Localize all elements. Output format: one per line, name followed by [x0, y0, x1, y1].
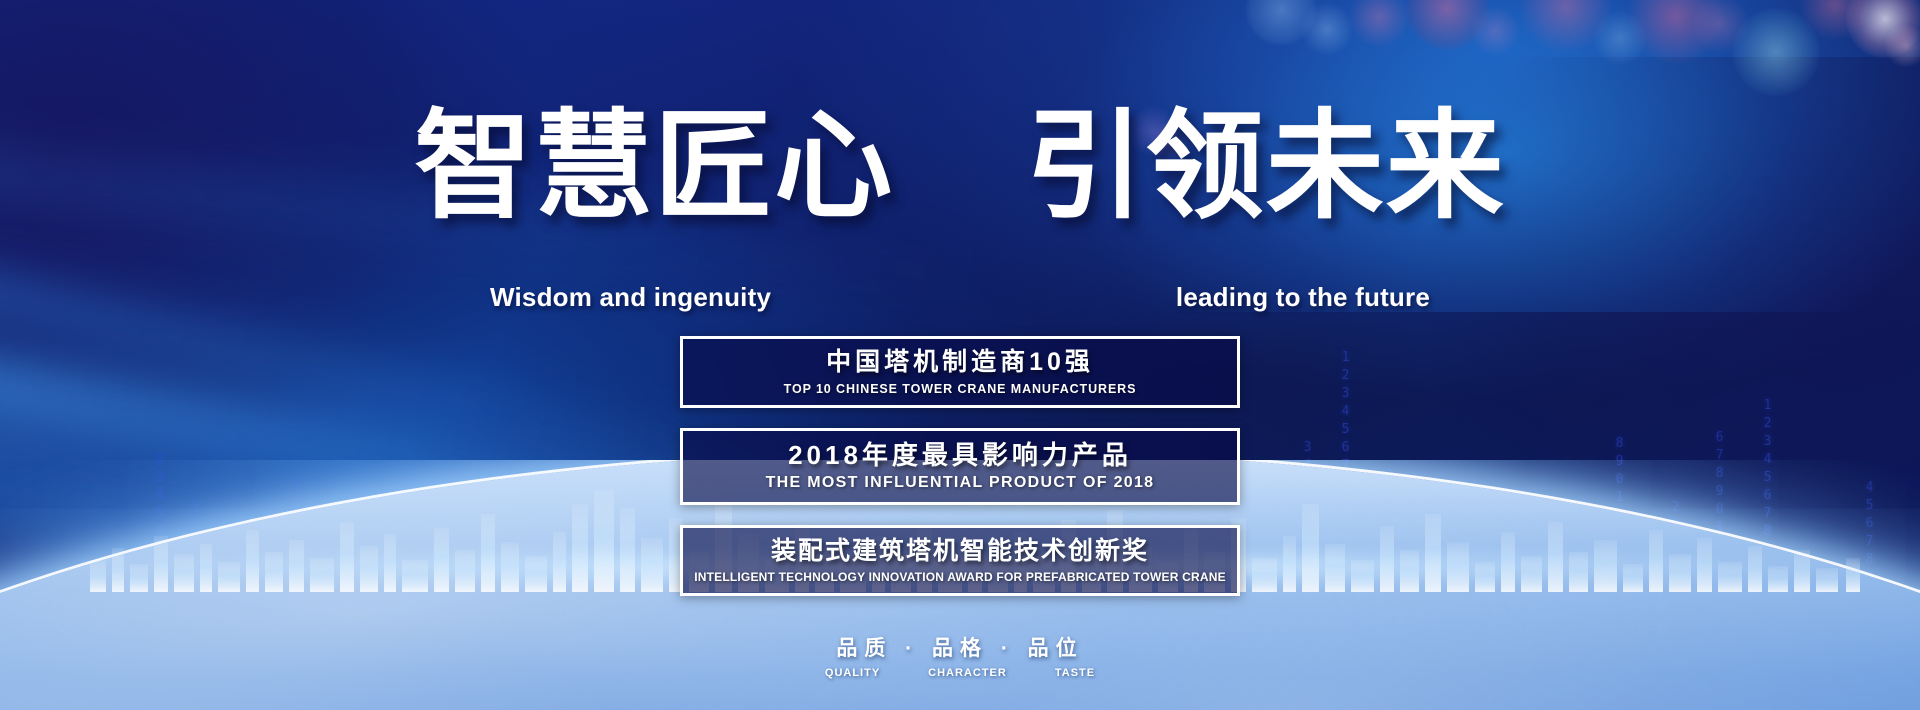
banner-root: 1234567890 23456789012345678901 12345678…	[0, 0, 1920, 710]
award-title-en: TOP 10 CHINESE TOWER CRANE MANUFACTURERS	[693, 381, 1227, 397]
headline-subtitles: Wisdom and ingenuity leading to the futu…	[0, 282, 1920, 313]
subtitle-right: leading to the future	[1040, 282, 1430, 313]
award-badge-top10: 中国塔机制造商10强 TOP 10 CHINESE TOWER CRANE MA…	[680, 336, 1240, 408]
tagline-en: QUALITY CHARACTER TASTE	[680, 667, 1240, 679]
award-badge-influential-product: 2018年度最具影响力产品 THE MOST INFLUENTIAL PRODU…	[680, 428, 1240, 505]
award-badge-innovation: 装配式建筑塔机智能技术创新奖 INTELLIGENT TECHNOLOGY IN…	[680, 525, 1240, 596]
page-title: 智慧匠心 引领未来	[0, 108, 1920, 226]
tagline: 品质 · 品格 · 品位 QUALITY CHARACTER TASTE	[680, 632, 1240, 679]
award-title-cn: 装配式建筑塔机智能技术创新奖	[693, 537, 1227, 567]
award-title-cn: 2018年度最具影响力产品	[693, 440, 1227, 471]
award-list: 中国塔机制造商10强 TOP 10 CHINESE TOWER CRANE MA…	[680, 336, 1240, 596]
headline-part-1: 智慧匠心	[414, 101, 894, 233]
tagline-en-character: CHARACTER	[928, 667, 1007, 679]
tagline-cn: 品质 · 品格 · 品位	[680, 632, 1240, 662]
award-title-en: INTELLIGENT TECHNOLOGY INNOVATION AWARD …	[693, 570, 1227, 586]
tagline-en-quality: QUALITY	[825, 667, 880, 679]
headline-part-2: 引领未来	[1026, 101, 1506, 233]
award-title-cn: 中国塔机制造商10强	[693, 348, 1227, 378]
award-title-en: THE MOST INFLUENTIAL PRODUCT OF 2018	[693, 473, 1227, 494]
subtitle-left: Wisdom and ingenuity	[490, 282, 880, 313]
tagline-en-taste: TASTE	[1055, 667, 1095, 679]
